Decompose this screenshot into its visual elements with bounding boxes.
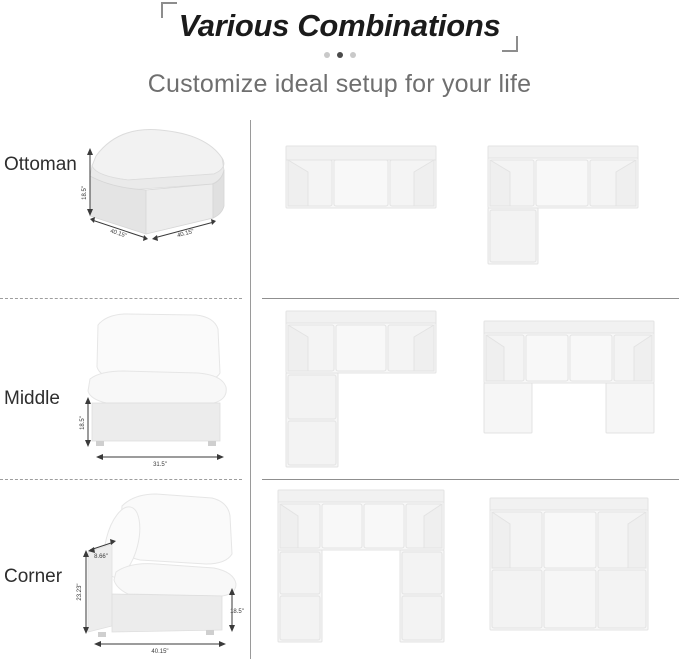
bracket-top-left-icon — [161, 2, 177, 18]
combination-u-shape-small — [466, 299, 676, 480]
combination-three-seat-sofa — [258, 118, 463, 299]
module-label-ottoman: Ottoman — [4, 154, 77, 176]
dim-ottoman-height: 18.5" — [82, 186, 88, 200]
combination-l-shape-small — [466, 118, 676, 299]
u-shape-small-topview — [466, 299, 676, 480]
dot-3-icon — [350, 52, 356, 58]
combination-l-shape-large — [258, 299, 463, 480]
dim-corner-width: 40.15" — [151, 649, 168, 655]
module-label-middle: Middle — [4, 388, 60, 410]
u-shape-large-topview — [258, 480, 463, 661]
full-block-topview — [466, 480, 676, 661]
l-shape-small-topview — [466, 118, 676, 299]
dim-middle-height: 18.5" — [80, 416, 86, 430]
dot-separator — [0, 52, 679, 58]
module-cell-ottoman: Ottoman 18.5" — [0, 118, 250, 299]
three-seat-sofa-topview — [258, 118, 463, 299]
dim-corner-arm-width: 8.66" — [94, 554, 108, 560]
combination-u-shape-large — [258, 480, 463, 661]
combination-full-block-sectional — [466, 480, 676, 661]
module-row-ottoman: Ottoman 18.5" — [0, 118, 679, 299]
module-label-corner: Corner — [4, 566, 62, 588]
dot-1-icon — [324, 52, 330, 58]
product-infographic: Various Combinations Customize ideal set… — [0, 0, 679, 661]
dot-2-icon — [337, 52, 343, 58]
dim-corner-arm-height: 23.23" — [77, 583, 83, 600]
bracket-bottom-right-icon — [502, 36, 518, 52]
dim-ottoman-depth: 40.15" — [177, 229, 195, 239]
page-subtitle: Customize ideal setup for your life — [0, 70, 679, 99]
module-cell-corner: Corner — [0, 480, 250, 661]
l-shape-large-topview — [258, 299, 463, 480]
module-cell-middle: Middle 18.5" — [0, 299, 250, 480]
module-row-middle: Middle 18.5" — [0, 299, 679, 480]
module-row-corner: Corner — [0, 480, 679, 661]
header: Various Combinations Customize ideal set… — [0, 0, 679, 118]
content-grid: Ottoman 18.5" — [0, 118, 679, 661]
dim-ottoman-width: 40.15" — [109, 229, 127, 240]
dim-middle-width: 31.5" — [153, 462, 167, 468]
dim-corner-seat-height: 18.5" — [230, 609, 244, 615]
title-container: Various Combinations — [0, 6, 679, 46]
ottoman-illustration: 18.5" 40.15" 40.15" — [0, 118, 250, 299]
page-title: Various Combinations — [179, 6, 501, 46]
